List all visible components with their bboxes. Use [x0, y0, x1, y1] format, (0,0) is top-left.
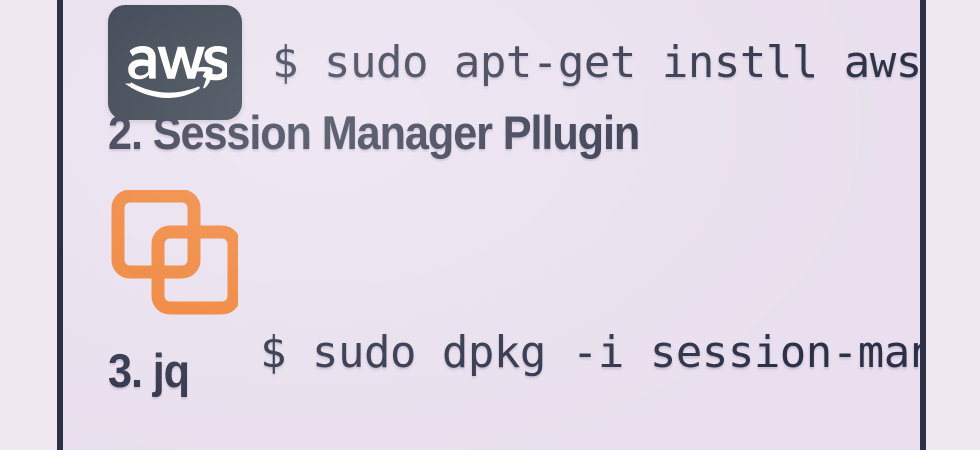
panel-inner: $ sudo apt-get instll awsli 2. Session M…	[63, 0, 920, 450]
step-aws-cli-row: $ sudo apt-get instll awsli	[108, 5, 926, 120]
command-text-session-manager: $ sudo dpkg -i session-man- age-plugin.d…	[260, 210, 926, 450]
heading-session-manager-plugin: 2. Session Manager Pllugin	[108, 107, 639, 159]
overlapping-squares-icon	[108, 190, 238, 315]
step-session-manager-row: $ sudo dpkg -i session-man- age-plugin.d…	[108, 188, 926, 450]
aws-logo-icon	[108, 5, 242, 120]
content-panel: $ sudo apt-get instll awsli 2. Session M…	[57, 0, 926, 450]
command-text-aws-cli: $ sudo apt-get instll awsli	[272, 34, 926, 91]
heading-jq: 3. jq	[108, 345, 189, 397]
slide-canvas: $ sudo apt-get instll awsli 2. Session M…	[0, 0, 980, 450]
command-line-1: $ sudo dpkg -i session-man-	[260, 324, 926, 381]
